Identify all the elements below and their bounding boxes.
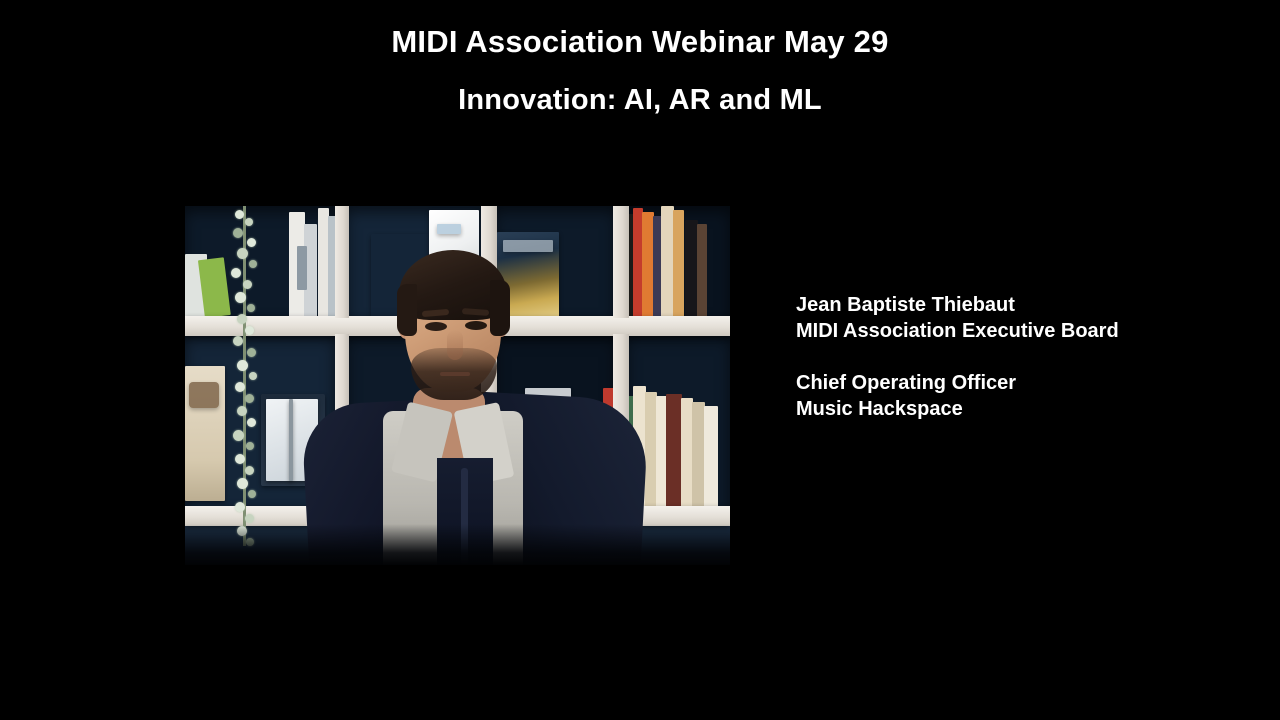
mouth <box>440 372 470 376</box>
photo-bottom-shadow <box>185 524 730 565</box>
slide-title: MIDI Association Webinar May 29 <box>0 24 1280 60</box>
speaker-photo-image <box>185 206 730 565</box>
speaker-photo <box>185 206 730 565</box>
speaker-affiliation: MIDI Association Executive Board <box>796 318 1236 344</box>
hair-side-left <box>397 284 417 336</box>
slide-subtitle: Innovation: AI, AR and ML <box>0 84 1280 117</box>
nose <box>447 330 463 360</box>
eye-left <box>425 322 447 331</box>
speaker-name: Jean Baptiste Thiebaut <box>796 292 1236 318</box>
speaker-organization: Music Hackspace <box>796 396 1236 422</box>
speaker-spacer <box>796 344 1236 370</box>
speaker-role: Chief Operating Officer <box>796 370 1236 396</box>
slide-canvas: MIDI Association Webinar May 29 Innovati… <box>0 0 1280 720</box>
hair-side-right <box>490 280 510 336</box>
speaker-info: Jean Baptiste Thiebaut MIDI Association … <box>796 292 1236 422</box>
speaker-figure <box>185 206 730 565</box>
eye-right <box>465 321 487 330</box>
